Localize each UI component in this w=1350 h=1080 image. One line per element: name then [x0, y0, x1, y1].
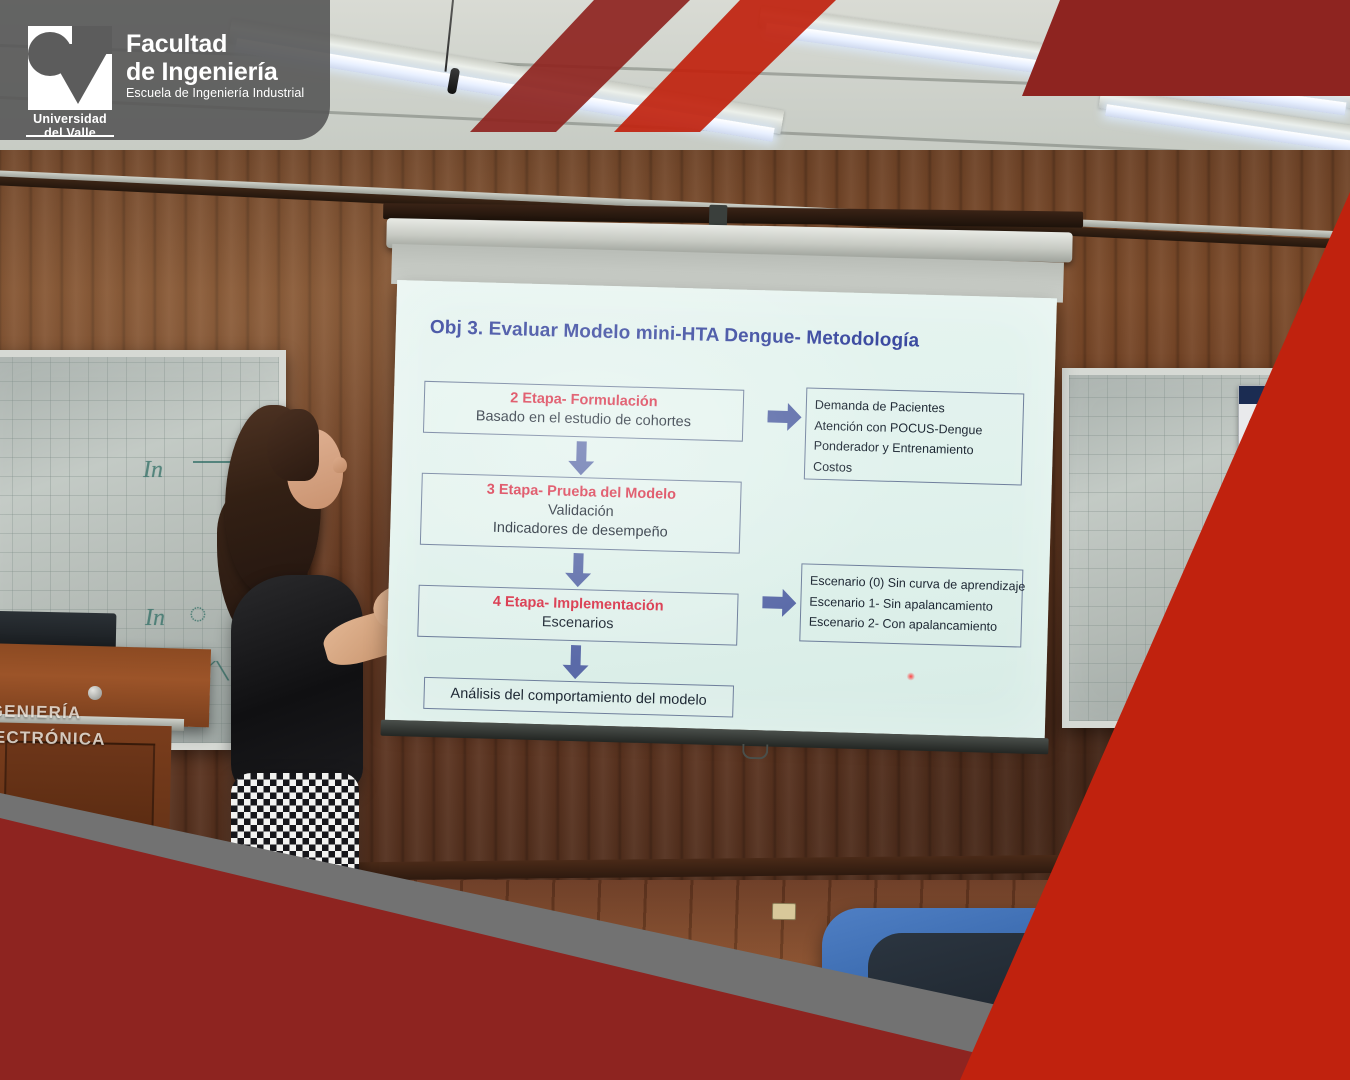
chair-seat-dark — [868, 933, 1112, 1080]
auditorium-chair — [1152, 892, 1350, 1080]
side-box-scenarios: Escenario (0) Sin curva de aprendizaje E… — [799, 563, 1023, 647]
presenter-blouse — [231, 575, 363, 790]
lectern-sign-line-2: ELECTRÓNICA — [0, 724, 155, 754]
flow-box-stage-4: 4 Etapa- Implementación Escenarios — [417, 585, 738, 646]
wall-poster-top — [1238, 385, 1290, 457]
wall-poster-bottom — [1238, 462, 1290, 534]
poster-logo-icon — [1248, 411, 1280, 445]
presenter-hair-front — [267, 409, 319, 481]
screen-pull-handle — [742, 744, 768, 760]
auditorium-chair — [822, 908, 1112, 1080]
chair-seat-dark — [1198, 919, 1350, 1080]
whiteboard-right — [1062, 368, 1342, 728]
flow-box-stage-2: 2 Etapa- Formulación Basado en el estudi… — [423, 381, 744, 442]
projector-screen: Obj 3. Evaluar Modelo mini-HTA Dengue- M… — [384, 252, 1057, 760]
poster-header-band — [1239, 386, 1289, 404]
arrow-right-icon — [762, 588, 797, 617]
arrow-down-icon — [568, 441, 595, 476]
presenter-gingham-trousers — [231, 773, 359, 943]
slide-title: Obj 3. Evaluar Modelo mini-HTA Dengue- M… — [430, 317, 920, 353]
lectern-sign-line-1: INGENIERÍA — [0, 698, 156, 728]
presentation-slide: Obj 3. Evaluar Modelo mini-HTA Dengue- M… — [385, 280, 1057, 738]
lectern-sign: INGENIERÍA ELECTRÓNICA — [0, 698, 156, 755]
arrow-down-icon — [565, 553, 592, 588]
floor — [0, 880, 1350, 1080]
flow-box-stage-3: 3 Etapa- Prueba del Modelo Validación In… — [420, 473, 742, 554]
arrow-right-icon — [767, 402, 802, 431]
side-box-item: Costos — [813, 457, 1013, 483]
lectern-panel — [3, 740, 155, 863]
screenshot-root: In In ◌ ⟋⟍ INGENIERÍA ELECTRÓNICA — [0, 0, 1350, 1080]
presenter-nose — [333, 457, 347, 473]
whiteboard-note: In — [143, 457, 163, 484]
laser-pointer-dot — [906, 672, 915, 680]
flow-box-line: Análisis del comportamiento del modelo — [424, 684, 732, 712]
poster-body — [1247, 473, 1281, 515]
wall-outlet — [772, 903, 796, 920]
arrow-down-icon — [562, 645, 589, 680]
lectern-knob — [88, 686, 102, 700]
wall-outlet — [1058, 872, 1082, 889]
whiteboard-note: In — [145, 605, 165, 632]
side-box-item: Escenario 2- Con apalancamiento — [809, 612, 1013, 638]
flow-box-final: Análisis del comportamiento del modelo — [423, 677, 734, 718]
screen-mount-bracket — [709, 205, 728, 227]
poster-figures — [1244, 517, 1284, 531]
side-box-inputs: Demanda de Pacientes Atención con POCUS-… — [804, 387, 1024, 485]
lecture-hall-photo: In In ◌ ⟋⟍ INGENIERÍA ELECTRÓNICA — [0, 0, 1350, 1080]
